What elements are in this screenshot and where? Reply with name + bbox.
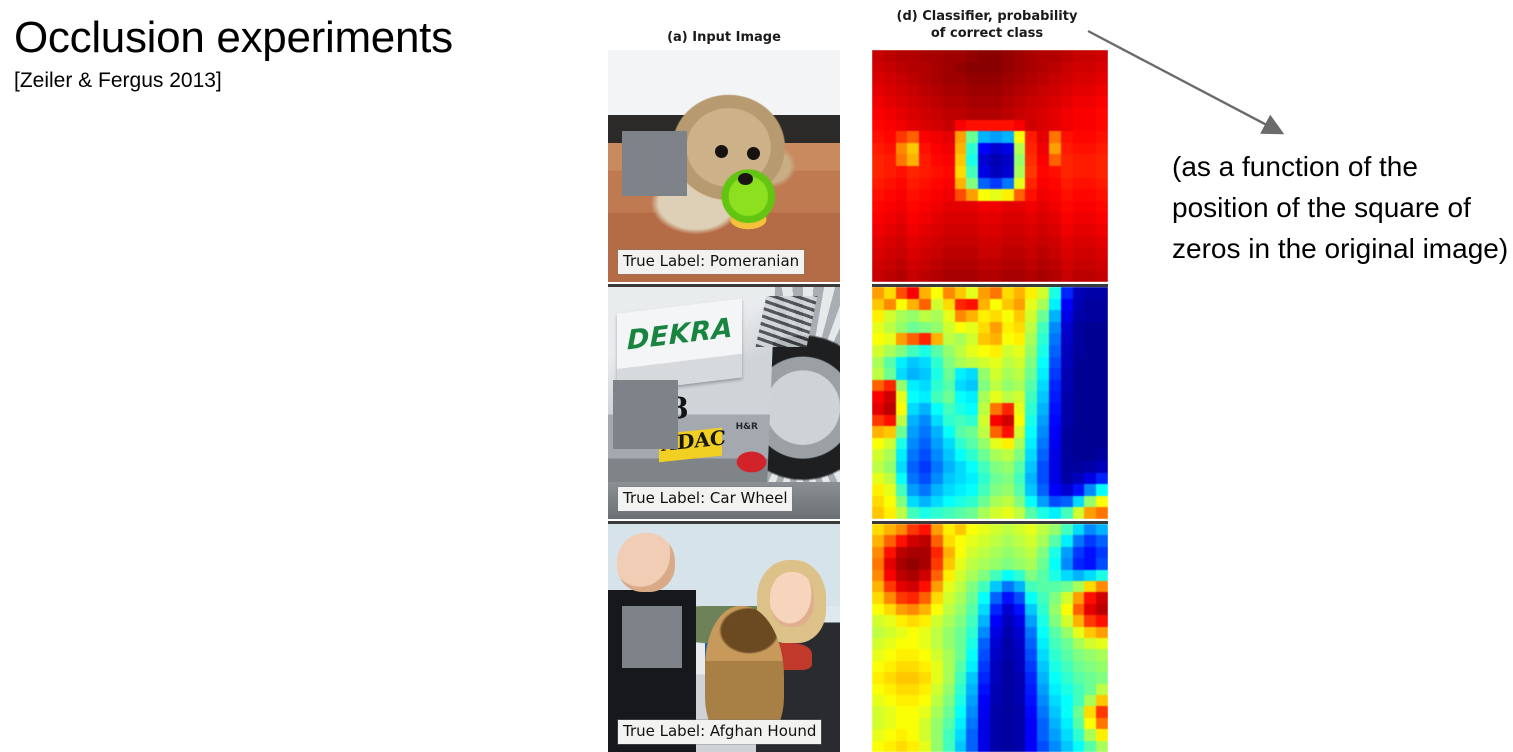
- title-block: Occlusion experiments [Zeiler & Fergus 2…: [14, 12, 453, 94]
- occlusion-square: [622, 131, 687, 196]
- photo-frame: [608, 524, 840, 752]
- woman-face: [770, 572, 814, 627]
- car-badge-icon: [733, 449, 770, 475]
- arrow-icon: [1075, 20, 1305, 150]
- heatmap-pomeranian: [872, 50, 1108, 282]
- photo-frame: [608, 50, 840, 282]
- occlusion-square: [622, 606, 682, 668]
- hr-sponsor-text: H&R: [736, 422, 758, 432]
- input-image-afghan-hound: True Label: Afghan Hound: [608, 524, 840, 752]
- page-title: Occlusion experiments: [14, 12, 453, 64]
- heatmap-grid: [872, 287, 1108, 519]
- car-vent: [756, 296, 818, 347]
- occlusion-figure: (a) Input Image (d) Classifier, probabil…: [600, 0, 1120, 752]
- input-image-car-wheel: DEKRA 8 ADAC H&R True Label: Car Wheel: [608, 287, 840, 519]
- photo-frame: DEKRA 8 ADAC H&R: [608, 287, 840, 519]
- heatmap-grid: [872, 50, 1108, 282]
- column-header-input: (a) Input Image: [608, 29, 840, 46]
- occlusion-square: [613, 380, 678, 450]
- figure-row-car-wheel: DEKRA 8 ADAC H&R True Label: Car Wheel: [600, 287, 1120, 519]
- true-label-badge: True Label: Car Wheel: [618, 487, 792, 511]
- annotation-arrow: [1075, 20, 1305, 150]
- heatmap-afghan-hound: [872, 524, 1108, 752]
- figure-row-afghan-hound: True Label: Afghan Hound: [600, 524, 1120, 752]
- input-image-pomeranian: True Label: Pomeranian: [608, 50, 840, 282]
- man-head: [617, 533, 675, 592]
- heatmap-grid: [872, 524, 1108, 752]
- true-label-badge: True Label: Afghan Hound: [618, 720, 821, 744]
- dog-nose-icon: [738, 173, 753, 185]
- true-label-badge: True Label: Pomeranian: [618, 250, 804, 274]
- citation-text: [Zeiler & Fergus 2013]: [14, 68, 453, 94]
- dog-eye-left-icon: [715, 145, 728, 158]
- dog-eye-right-icon: [747, 147, 760, 160]
- heatmap-car-wheel: [872, 287, 1108, 519]
- figure-row-pomeranian: True Label: Pomeranian: [600, 50, 1120, 282]
- annotation-caption: (as a function of the position of the sq…: [1172, 146, 1512, 269]
